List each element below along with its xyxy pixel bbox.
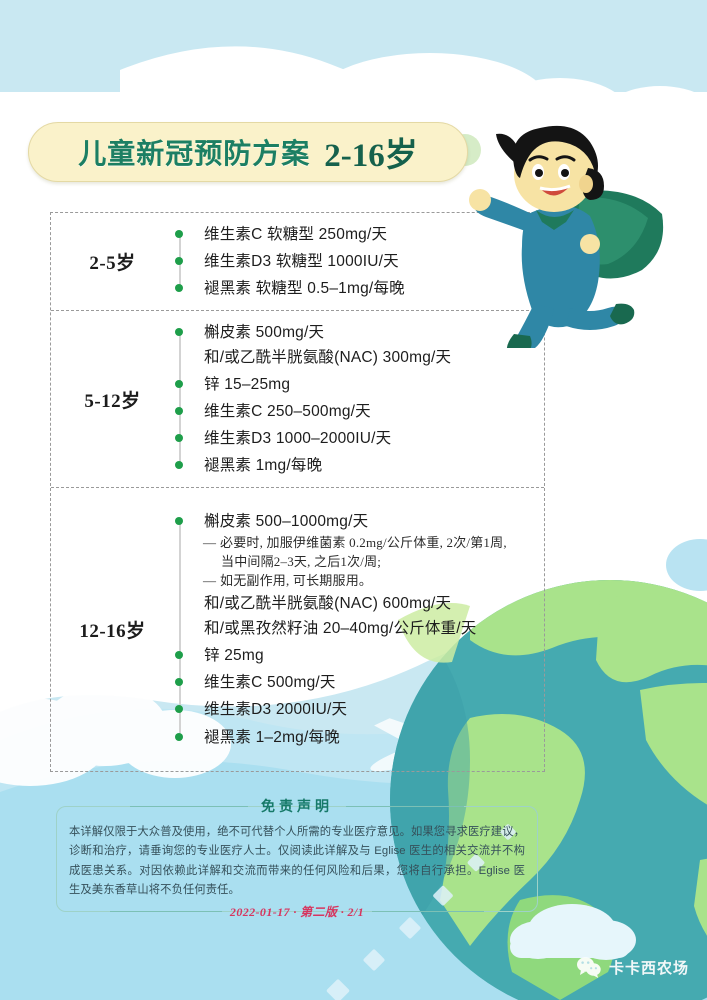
note-text: 必要时, 加服伊维菌素 0.2mg/公斤体重, 2次/第1周, (220, 535, 507, 550)
bullet-dot (175, 407, 183, 415)
item-text: 维生素C 软糖型 250mg/天 (204, 226, 387, 243)
page-title: 儿童新冠预防方案 (78, 132, 310, 172)
note-text-cont: 当中间隔2–3天, 之后1次/周; (220, 553, 544, 572)
item-text: 褪黑素 软糖型 0.5–1mg/每晚 (204, 280, 405, 297)
disclaimer-heading: 免责声明 (57, 796, 537, 816)
item-text: 维生素C 250–500mg/天 (204, 403, 371, 420)
list-item: 褪黑素 1mg/每晚 (204, 452, 544, 479)
note-line: 必要时, 加服伊维菌素 0.2mg/公斤体重, 2次/第1周, 当中间隔2–3天… (206, 534, 544, 572)
item-text: 槲皮素 500–1000mg/天 (204, 513, 368, 530)
age-label: 5-12岁 (51, 386, 174, 413)
list-item: 维生素D3 2000IU/天 (204, 696, 544, 723)
item-text: 维生素D3 2000IU/天 (204, 701, 347, 718)
item-text: 维生素D3 软糖型 1000IU/天 (204, 253, 399, 270)
item-text: 褪黑素 1mg/每晚 (204, 457, 322, 474)
timeline-spine (179, 520, 181, 732)
bullet-dot (175, 380, 183, 388)
item-subtext-2: 和/或黑孜然籽油 20–40mg/公斤体重/天 (204, 616, 544, 641)
age-label: 2-5岁 (51, 248, 174, 275)
item-text: 槲皮素 500mg/天 (204, 324, 324, 341)
superhero-boy-illustration (462, 118, 672, 348)
page-title-age-range: 2-16岁 (324, 128, 418, 176)
bullet-dot (175, 284, 183, 292)
disclaimer-text: 本详解仅限于大众普及使用，绝不可代替个人所需的专业医疗意见。如果您寻求医疗建议，… (69, 823, 525, 901)
bullet-dot (175, 461, 183, 469)
page-title-banner: 儿童新冠预防方案 2-16岁 (28, 122, 468, 182)
bullet-dot (175, 678, 183, 686)
disclaimer-footer: 2022-01-17 · 第二版 · 2/1 (57, 903, 537, 920)
wechat-account: 卡卡西农场 (576, 956, 689, 978)
item-subtext: 和/或乙酰半胱氨酸(NAC) 600mg/天 (204, 591, 544, 616)
bullet-dot (175, 328, 183, 336)
list-item: 维生素C 250–500mg/天 (204, 398, 544, 425)
bullet-dot (175, 517, 183, 525)
divider-left (130, 806, 248, 807)
bullet-dot (175, 230, 183, 238)
item-notes: 必要时, 加服伊维菌素 0.2mg/公斤体重, 2次/第1周, 当中间隔2–3天… (204, 534, 544, 591)
bullet-dot (175, 651, 183, 659)
note-line: 如无副作用, 可长期服用。 (206, 572, 544, 591)
wechat-account-name: 卡卡西农场 (609, 957, 689, 978)
bullet-dot (175, 257, 183, 265)
list-item: 维生素D3 1000–2000IU/天 (204, 425, 544, 452)
item-text: 褪黑素 1–2mg/每晚 (204, 729, 340, 746)
item-text: 维生素D3 1000–2000IU/天 (204, 430, 391, 447)
list-item: 锌 25mg (204, 642, 544, 669)
divider-left (110, 911, 222, 912)
list-item: 褪黑素 1–2mg/每晚 (204, 724, 544, 751)
divider-right (346, 806, 464, 807)
disclaimer-title: 免责声明 (257, 796, 337, 816)
item-text: 锌 25mg (204, 647, 264, 664)
wechat-icon (576, 956, 602, 978)
bullet-dot (175, 705, 183, 713)
bullet-dot (175, 434, 183, 442)
divider-right (372, 911, 484, 912)
section-age-12-16: 12-16岁 槲皮素 500–1000mg/天 必要时, 加服伊维菌素 0.2m… (51, 488, 544, 771)
bullet-dot (175, 733, 183, 741)
list-item: 维生素C 500mg/天 (204, 669, 544, 696)
timeline-spine (179, 331, 181, 468)
item-list: 槲皮素 500–1000mg/天 必要时, 加服伊维菌素 0.2mg/公斤体重,… (174, 508, 544, 750)
age-label: 12-16岁 (51, 616, 174, 643)
item-subtext: 和/或乙酰半胱氨酸(NAC) 300mg/天 (204, 345, 544, 370)
item-text: 维生素C 500mg/天 (204, 674, 336, 691)
list-item: 槲皮素 500–1000mg/天 必要时, 加服伊维菌素 0.2mg/公斤体重,… (204, 508, 544, 642)
version-date: 2022-01-17 · 第二版 · 2/1 (230, 903, 364, 920)
item-text: 锌 15–25mg (204, 376, 290, 393)
disclaimer-box: 免责声明 本详解仅限于大众普及使用，绝不可代替个人所需的专业医疗意见。如果您寻求… (56, 806, 538, 912)
note-text: 如无副作用, 可长期服用。 (220, 573, 372, 588)
list-item: 锌 15–25mg (204, 371, 544, 398)
